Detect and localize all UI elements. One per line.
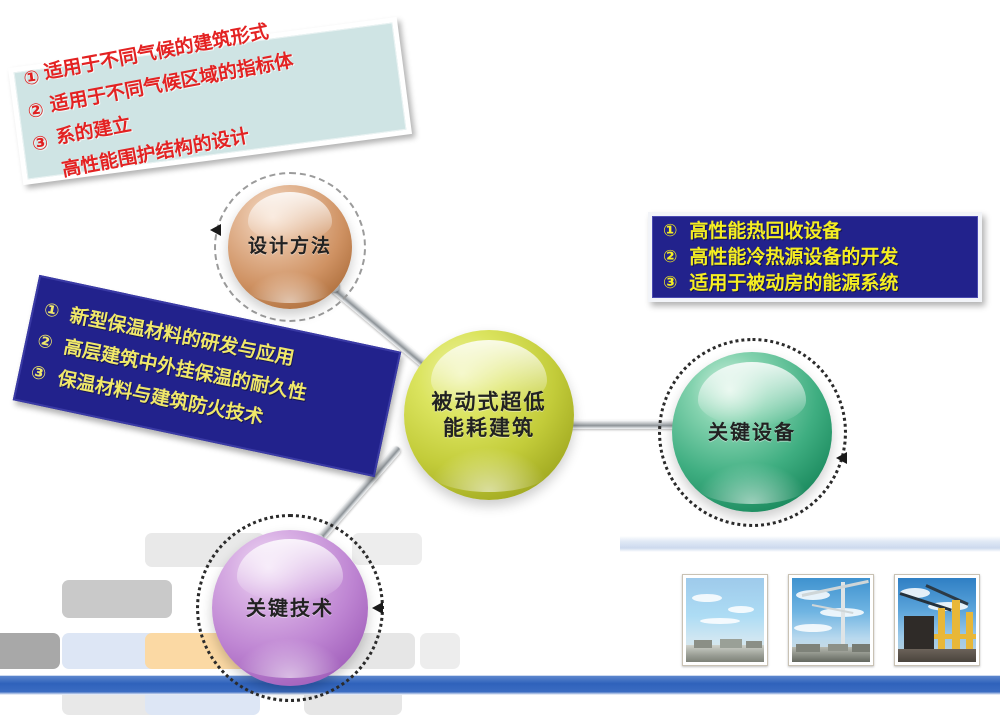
footer-photo-3: [894, 574, 980, 666]
node-center-label: 被动式超低 能耗建筑: [432, 389, 547, 442]
node-technology-label: 关键技术: [246, 596, 334, 621]
decor-band: [620, 536, 1000, 552]
callout-technology-num-2: ②: [34, 325, 56, 359]
callout-design-num-1: ①: [21, 61, 41, 96]
callout-technology-texts: 新型保温材料的研发与应用 高层建筑中外挂保温的耐久性 保温材料与建筑防火技术: [55, 300, 316, 443]
decor-block: [420, 633, 460, 669]
callout-equipment-num-1: ①: [663, 218, 677, 244]
callout-equipment-num-2: ②: [663, 244, 677, 270]
callout-equipment-item-3: 适用于被动房的能源系统: [689, 270, 898, 296]
callout-equipment-num-3: ③: [663, 270, 677, 296]
callout-design[interactable]: ① ② ③ 适用于不同气候的建筑形式 适用于不同气候区域的指标体 系的建立 高性…: [8, 17, 412, 185]
decor-block: [62, 580, 172, 618]
callout-design-num-2: ②: [26, 94, 46, 129]
rotation-arrow-technology: [372, 602, 383, 614]
decor-block: [0, 633, 60, 669]
callout-technology-num-1: ①: [41, 294, 63, 328]
callout-equipment-item-2: 高性能冷热源设备的开发: [689, 244, 898, 270]
callout-technology[interactable]: ① ② ③ 新型保温材料的研发与应用 高层建筑中外挂保温的耐久性 保温材料与建筑…: [13, 275, 402, 477]
node-technology[interactable]: 关键技术: [212, 530, 368, 686]
callout-equipment-texts: 高性能热回收设备 高性能冷热源设备的开发 适用于被动房的能源系统: [689, 218, 898, 296]
callout-equipment[interactable]: ① ② ③ 高性能热回收设备 高性能冷热源设备的开发 适用于被动房的能源系统: [648, 212, 982, 302]
node-equipment[interactable]: 关键设备: [672, 352, 832, 512]
diagram-canvas: 设计方法 关键设备 关键技术 被动式超低 能耗建筑 ① ② ③ 适用于不同气候的…: [0, 0, 1000, 695]
callout-equipment-item-1: 高性能热回收设备: [689, 218, 898, 244]
rotation-arrow-equipment: [836, 452, 847, 464]
callout-design-num-3: ③: [30, 127, 50, 162]
callout-equipment-numbers: ① ② ③: [663, 218, 677, 296]
node-equipment-label: 关键设备: [708, 420, 796, 445]
callout-technology-num-3: ③: [28, 357, 50, 391]
node-center-line2: 能耗建筑: [443, 416, 535, 440]
footer-photo-1: [682, 574, 768, 666]
node-center-line1: 被动式超低: [432, 390, 547, 414]
node-center[interactable]: 被动式超低 能耗建筑: [404, 330, 574, 500]
rotation-arrow-design: [210, 224, 221, 236]
node-design[interactable]: 设计方法: [228, 185, 352, 309]
node-design-label: 设计方法: [248, 235, 332, 259]
footer-bar: [0, 672, 1000, 695]
footer-photo-2: [788, 574, 874, 666]
callout-design-texts: 适用于不同气候的建筑形式 适用于不同气候区域的指标体 系的建立 高性能围护结构的…: [41, 12, 308, 187]
